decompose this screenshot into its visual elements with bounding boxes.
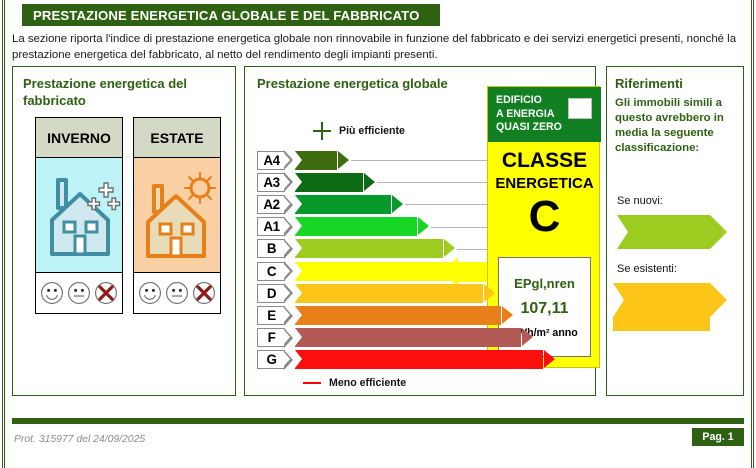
energy-class-badge: E — [257, 306, 285, 325]
energy-class-bar — [295, 173, 363, 192]
season-label-inverno: INVERNO — [36, 118, 122, 158]
bar-notch — [295, 217, 302, 235]
new-buildings-class-value: A1 (83,15) — [634, 225, 693, 239]
bar-notch — [295, 350, 302, 368]
chevron-notch — [613, 283, 624, 317]
smiley-cross-icon[interactable] — [192, 281, 216, 305]
chevron-notch — [617, 215, 628, 249]
intro-text: La sezione riporta l'indice di prestazio… — [12, 31, 742, 63]
energy-class-bar — [295, 350, 543, 369]
summer-house-icon — [134, 158, 220, 273]
energy-class-badge: A3 — [257, 173, 285, 192]
bar-notch — [295, 328, 302, 346]
section-title-bar: PRESTAZIONE ENERGETICA GLOBALE E DEL FAB… — [22, 4, 440, 26]
smiley-cross-icon[interactable] — [94, 281, 118, 305]
references-panel: Riferimenti Gli immobili simili a questo… — [606, 66, 744, 396]
rating-faces-estate — [134, 273, 220, 313]
plus-icon — [313, 122, 331, 140]
bar-notch — [295, 195, 302, 213]
footer-rule — [12, 418, 744, 424]
energy-class-badge: A4 — [257, 151, 285, 170]
badge-tip — [284, 239, 293, 259]
badge-tip — [284, 350, 293, 370]
building-panel-title: Prestazione energetica del fabbricato — [23, 75, 223, 109]
classe-line2: ENERGETICA — [488, 175, 601, 192]
ape-page: PRESTAZIONE ENERGETICA GLOBALE E DEL FAB… — [0, 0, 756, 468]
season-label-estate: ESTATE — [134, 118, 220, 158]
bar-notch — [295, 262, 302, 280]
energy-class-bar — [295, 328, 521, 347]
nzeb-checkbox[interactable] — [568, 98, 592, 119]
badge-tip — [284, 306, 293, 326]
energy-class-badge: C — [257, 262, 285, 281]
ep-indicator-name: EPgl,nren — [514, 276, 575, 291]
badge-tip — [284, 328, 293, 348]
global-panel-title: Prestazione energetica globale — [257, 75, 448, 92]
energy-class-badge: G — [257, 350, 285, 369]
energy-class-bar — [295, 239, 443, 258]
energy-class-bar — [295, 195, 391, 214]
bar-notch — [295, 151, 302, 169]
new-buildings-class-chevron: A1 (83,15) — [617, 215, 710, 249]
badge-tip — [284, 172, 293, 192]
least-efficient-legend: Meno efficiente — [303, 377, 406, 389]
least-efficient-label: Meno efficiente — [329, 377, 406, 389]
winter-house-icon — [36, 158, 122, 273]
most-efficient-label: Più efficiente — [339, 125, 405, 137]
seasons-container: INVERNO — [35, 117, 221, 314]
energy-class-badge: B — [257, 239, 285, 258]
footer-page-badge: Pag. 1 — [692, 428, 744, 446]
smiley-happy-icon[interactable] — [138, 281, 162, 305]
existing-buildings-class-chevron — [613, 283, 710, 331]
season-card-inverno: INVERNO — [35, 117, 123, 314]
badge-tip — [284, 217, 293, 237]
energy-class-bar — [295, 151, 337, 170]
bar-notch — [295, 284, 302, 302]
smiley-neutral-icon[interactable] — [67, 281, 91, 305]
building-performance-panel: Prestazione energetica del fabbricato IN… — [12, 66, 236, 396]
season-card-estate: ESTATE — [133, 117, 221, 314]
energy-class-bar — [295, 306, 501, 325]
badge-tip — [284, 261, 293, 281]
classe-value: C — [488, 191, 601, 243]
energy-class-bar — [295, 217, 417, 236]
badge-tip — [284, 150, 293, 170]
energy-class-badge: A2 — [257, 195, 285, 214]
energy-class-badge: A1 — [257, 217, 285, 236]
badge-tip — [284, 283, 293, 303]
existing-buildings-label: Se esistenti: — [617, 263, 677, 275]
classe-line1: CLASSE — [488, 149, 601, 173]
rating-faces-inverno — [36, 273, 122, 313]
references-subtitle: Gli immobili simili a questo avrebbero i… — [615, 96, 737, 156]
nzeb-label: EDIFICIO A ENERGIA QUASI ZERO — [488, 94, 562, 134]
bar-notch — [295, 239, 302, 257]
energy-class-box: EDIFICIO A ENERGIA QUASI ZERO CLASSE ENE… — [487, 86, 600, 368]
badge-tip — [284, 195, 293, 215]
new-buildings-label: Se nuovi: — [617, 195, 663, 207]
energy-class-badge: D — [257, 284, 285, 303]
bar-notch — [295, 173, 302, 191]
energy-class-bar — [295, 262, 467, 281]
page-left-rule — [2, 0, 5, 468]
energy-class-bar — [295, 284, 483, 303]
page-title: PRESTAZIONE ENERGETICA GLOBALE E DEL FAB… — [22, 8, 419, 23]
page-right-rule — [751, 0, 754, 468]
most-efficient-legend: Più efficiente — [313, 122, 405, 140]
nzeb-banner: EDIFICIO A ENERGIA QUASI ZERO — [488, 87, 601, 142]
footer-protocol: Prot. 315977 del 24/09/2025 — [14, 434, 145, 445]
energy-class-row: G — [257, 349, 587, 371]
bar-notch — [295, 306, 302, 324]
energy-class-badge: F — [257, 328, 285, 347]
ep-indicator-value: 107,11 — [520, 300, 568, 318]
smiley-happy-icon[interactable] — [40, 281, 64, 305]
references-panel-title: Riferimenti — [615, 75, 683, 92]
minus-icon — [303, 382, 321, 385]
smiley-neutral-icon[interactable] — [165, 281, 189, 305]
